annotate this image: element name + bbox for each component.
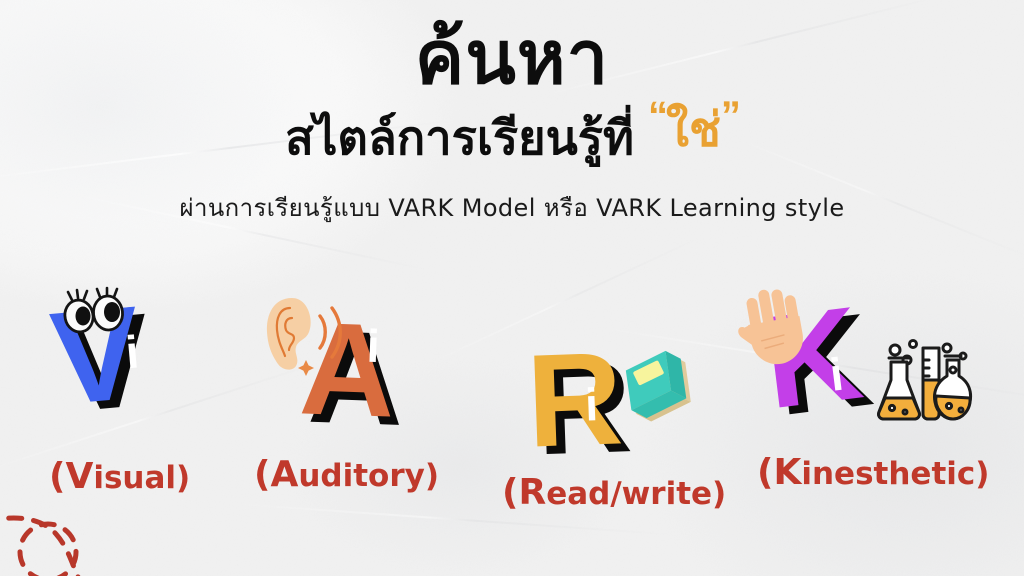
vark-card-kinesthetic: K K i xyxy=(765,292,860,424)
lab-flasks-icon xyxy=(877,340,973,422)
caption-read-cap: (R xyxy=(502,472,546,513)
book-icon xyxy=(617,348,703,434)
vark-card-auditory: A A i (Auditory) xyxy=(300,304,395,436)
caption-auditory-wrap: (Auditory) xyxy=(254,454,439,495)
caption-read-wrap: (Read/write) xyxy=(502,472,726,513)
letter-r-inner-i: i xyxy=(584,381,598,427)
subtitle-secondary: ผ่านการเรียนรู้แบบ VARK Model หรือ VARK … xyxy=(0,188,1024,227)
caption-kinesthetic: (Kinesthetic) xyxy=(757,456,989,492)
letter-r: R R i xyxy=(525,332,625,467)
caption-read-rest: ead/write) xyxy=(546,476,726,512)
vark-letters-group: V V i (Visual) xyxy=(0,272,1024,532)
dashed-spiral-decoration xyxy=(0,500,180,576)
caption-read: (Read/write) xyxy=(502,476,726,512)
caption-auditory: (Auditory) xyxy=(254,458,439,494)
caption-visual-rest: isual) xyxy=(93,460,190,496)
caption-kinesthetic-wrap: (Kinesthetic) xyxy=(757,452,989,493)
caption-auditory-rest: uditory) xyxy=(298,458,439,494)
subtitle-text: สไตล์การเรียนรู้ที่ xyxy=(285,110,634,166)
ear-icon xyxy=(262,292,346,378)
accent-word: ใช่ xyxy=(666,103,721,156)
vark-card-read: R R i (Read/write xyxy=(527,334,622,466)
caption-auditory-cap: (A xyxy=(254,454,298,495)
letter-r-glyph: R xyxy=(525,332,625,467)
eyes-icon xyxy=(58,288,128,346)
accent-phrase: “ใช่” xyxy=(648,92,739,158)
hand-icon xyxy=(737,286,817,368)
caption-visual: (Visual) xyxy=(49,460,190,496)
close-quote: ” xyxy=(721,94,739,138)
headline-block: ค้นหา สไตล์การเรียนรู้ที่ “ใช่” ผ่านการเ… xyxy=(0,18,1024,227)
page-title: ค้นหา xyxy=(0,18,1024,98)
subtitle-row: สไตล์การเรียนรู้ที่ “ใช่” xyxy=(0,100,1024,166)
caption-kinesthetic-cap: (K xyxy=(757,452,801,493)
caption-visual-wrap: (Visual) xyxy=(49,456,190,497)
poster-canvas: ค้นหา สไตล์การเรียนรู้ที่ “ใช่” ผ่านการเ… xyxy=(0,0,1024,576)
caption-kinesthetic-rest: inesthetic) xyxy=(801,456,989,492)
open-quote: “ xyxy=(648,94,666,138)
caption-visual-cap: (V xyxy=(49,456,93,497)
letter-a-inner-i: i xyxy=(366,323,380,369)
vark-card-visual: V V i (Visual) xyxy=(52,290,140,422)
